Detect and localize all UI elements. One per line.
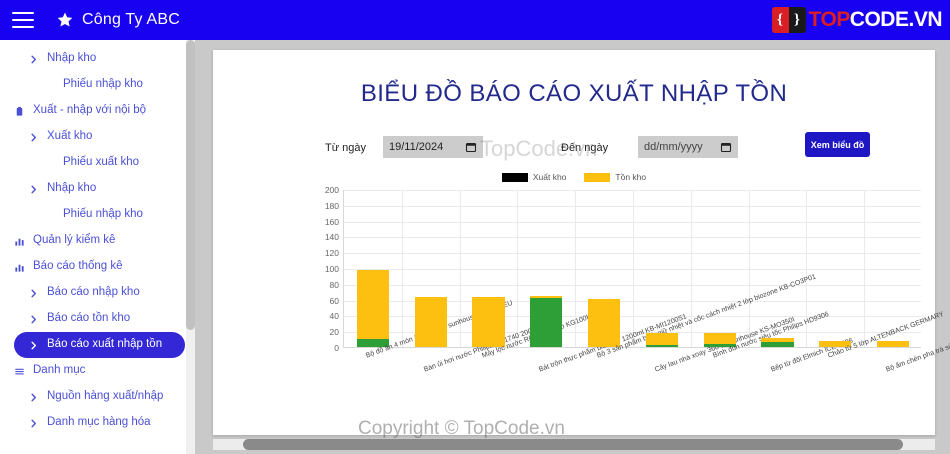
chart-bar[interactable]	[415, 297, 447, 347]
to-date-label: Đến ngày	[561, 142, 608, 154]
bar-segment-xuất-kho	[761, 342, 793, 347]
app-header: Công Ty ABC { } TOPCODE.VN	[0, 0, 950, 40]
sidebar-item-label: Danh mục hàng hóa	[47, 417, 151, 429]
sidebar-scrollbar-thumb[interactable]	[186, 40, 195, 330]
chart-bar[interactable]	[588, 299, 620, 347]
sidebar-item-7[interactable]: Quản lý kiểm kê	[0, 228, 195, 254]
horizontal-scrollbar-thumb[interactable]	[243, 439, 903, 450]
sidebar-item-label: Báo cáo xuất nhập tồn	[47, 339, 162, 351]
filter-bar: Từ ngày 19/11/2024 Đến ngày dd/mm/yyyy X…	[213, 134, 935, 164]
bar-segment-xuất-kho	[530, 298, 562, 347]
logo-vn: .VN	[908, 8, 942, 31]
sidebar-item-label: Báo cáo thống kê	[33, 261, 123, 273]
calendar-icon[interactable]	[720, 141, 732, 153]
bar-segment-tồn-kho	[357, 270, 389, 340]
sidebar-item-1[interactable]: Phiếu nhập kho	[0, 72, 195, 98]
sidebar-item-label: Nhập kho	[47, 183, 96, 195]
y-axis-tick: 200	[325, 185, 339, 195]
sidebar-item-10[interactable]: Báo cáo tồn kho	[0, 306, 195, 332]
sidebar-item-label: Quản lý kiểm kê	[33, 235, 115, 247]
chevron-right-icon	[28, 340, 42, 351]
sidebar-item-12[interactable]: Danh mục	[0, 358, 195, 384]
bar-segment-tồn-kho	[646, 333, 678, 346]
y-axis-tick: 160	[325, 217, 339, 227]
chevron-right-icon	[28, 314, 42, 325]
star-icon	[56, 11, 74, 29]
y-axis-tick: 100	[325, 264, 339, 274]
to-date-input[interactable]: dd/mm/yyyy	[638, 136, 738, 158]
y-axis-tick: 120	[325, 248, 339, 258]
bar-chart-icon	[14, 262, 28, 273]
brand-name: Công Ty ABC	[82, 11, 180, 29]
legend-item-1[interactable]: Tồn kho	[584, 172, 646, 182]
legend-item-0[interactable]: Xuất kho	[502, 172, 567, 182]
vertical-gridline	[402, 190, 403, 347]
chevron-right-icon	[28, 418, 42, 429]
sidebar-item-label: Xuất - nhập với nội bộ	[33, 105, 146, 117]
legend-swatch	[584, 173, 610, 182]
sidebar-item-3[interactable]: Xuất kho	[0, 124, 195, 150]
y-axis-tick: 20	[330, 327, 339, 337]
vertical-gridline	[633, 190, 634, 347]
bar-segment-tồn-kho	[704, 333, 736, 344]
sidebar-item-5[interactable]: Nhập kho	[0, 176, 195, 202]
brand: Công Ty ABC	[56, 11, 180, 29]
logo-top: TOP	[809, 8, 850, 31]
from-date-value: 19/11/2024	[389, 141, 443, 153]
chart-legend: Xuất khoTồn kho	[213, 172, 935, 182]
chevron-right-icon	[28, 184, 42, 195]
sidebar-item-label: Xuất kho	[47, 131, 92, 143]
chart-plot-area: 020406080100120140160180200Bộ đồ ăn 4 mó…	[343, 190, 921, 348]
chart-bar[interactable]	[357, 270, 389, 347]
sidebar-item-label: Báo cáo nhập kho	[47, 287, 140, 299]
chart-bar[interactable]	[646, 333, 678, 347]
sidebar-item-6[interactable]: Phiếu nhập kho	[0, 202, 195, 228]
view-chart-button[interactable]: Xem biểu đồ	[805, 132, 870, 157]
sidebar-item-8[interactable]: Báo cáo thống kê	[0, 254, 195, 280]
bracket-right: }	[789, 7, 806, 33]
vertical-gridline	[749, 190, 750, 347]
sidebar-item-9[interactable]: Báo cáo nhập kho	[0, 280, 195, 306]
chevron-right-icon	[28, 392, 42, 403]
bar-segment-tồn-kho	[415, 297, 447, 347]
sidebar-item-14[interactable]: Danh mục hàng hóa	[0, 410, 195, 436]
y-axis-tick: 40	[330, 311, 339, 321]
sidebar-item-0[interactable]: Nhập kho	[0, 46, 195, 72]
sidebar-menu: Nhập khoPhiếu nhập khoXuất - nhập với nộ…	[0, 40, 195, 436]
legend-swatch	[502, 173, 528, 182]
chart-bar[interactable]	[877, 341, 909, 347]
chevron-right-icon	[28, 288, 42, 299]
sidebar-item-label: Phiếu nhập kho	[63, 209, 143, 221]
page-title: BIỂU ĐỒ BÁO CÁO XUẤT NHẬP TỒN	[213, 50, 935, 108]
brackets-icon: { }	[772, 7, 806, 33]
legend-label: Tồn kho	[615, 172, 646, 182]
chevron-right-icon	[28, 132, 42, 143]
chart-bar[interactable]	[530, 296, 562, 347]
y-axis-tick: 180	[325, 201, 339, 211]
report-card: BIỂU ĐỒ BÁO CÁO XUẤT NHẬP TỒN Từ ngày 19…	[213, 50, 935, 435]
sidebar-item-label: Báo cáo tồn kho	[47, 313, 130, 325]
bar-segment-xuất-kho	[646, 345, 678, 347]
bar-segment-tồn-kho	[472, 297, 504, 347]
sidebar-item-13[interactable]: Nguồn hàng xuất/nhập	[0, 384, 195, 410]
clipboard-icon	[14, 106, 28, 117]
y-axis-tick: 80	[330, 280, 339, 290]
sidebar-item-label: Phiếu nhập kho	[63, 79, 143, 91]
sidebar-scrollbar[interactable]	[186, 40, 195, 454]
sidebar: Nhập khoPhiếu nhập khoXuất - nhập với nộ…	[0, 40, 195, 454]
bar-segment-tồn-kho	[877, 341, 909, 347]
sidebar-item-label: Danh mục	[33, 365, 85, 377]
sidebar-item-11[interactable]: Báo cáo xuất nhập tồn	[14, 332, 185, 358]
logo-code: CODE	[850, 8, 909, 31]
list-icon	[14, 366, 28, 377]
logo-text: TOPCODE.VN	[809, 8, 943, 32]
y-axis-tick: 0	[334, 343, 339, 353]
sidebar-item-label: Phiếu xuất kho	[63, 157, 139, 169]
vertical-gridline	[864, 190, 865, 347]
y-axis-tick: 140	[325, 232, 339, 242]
horizontal-scrollbar[interactable]	[213, 439, 935, 450]
chart-bar[interactable]	[472, 297, 504, 347]
legend-label: Xuất kho	[533, 172, 567, 182]
calendar-icon[interactable]	[465, 141, 477, 153]
sidebar-item-label: Nguồn hàng xuất/nhập	[47, 391, 163, 403]
chart-bar[interactable]	[761, 338, 793, 347]
to-date-placeholder: dd/mm/yyyy	[644, 141, 703, 153]
from-date-input[interactable]: 19/11/2024	[383, 136, 483, 158]
sidebar-item-2[interactable]: Xuất - nhập với nội bộ	[0, 98, 195, 124]
y-axis-tick: 60	[330, 296, 339, 306]
hamburger-icon[interactable]	[12, 12, 34, 28]
vertical-gridline	[517, 190, 518, 347]
bracket-left: {	[772, 7, 789, 33]
bar-segment-tồn-kho	[588, 299, 620, 347]
chart-container: Xuất khoTồn kho 020406080100120140160180…	[213, 178, 935, 408]
topcode-logo: { } TOPCODE.VN	[772, 6, 943, 34]
chevron-right-icon	[28, 54, 42, 65]
sidebar-item-4[interactable]: Phiếu xuất kho	[0, 150, 195, 176]
sidebar-item-label: Nhập kho	[47, 53, 96, 65]
from-date-label: Từ ngày	[325, 142, 366, 154]
bar-chart-icon	[14, 236, 28, 247]
